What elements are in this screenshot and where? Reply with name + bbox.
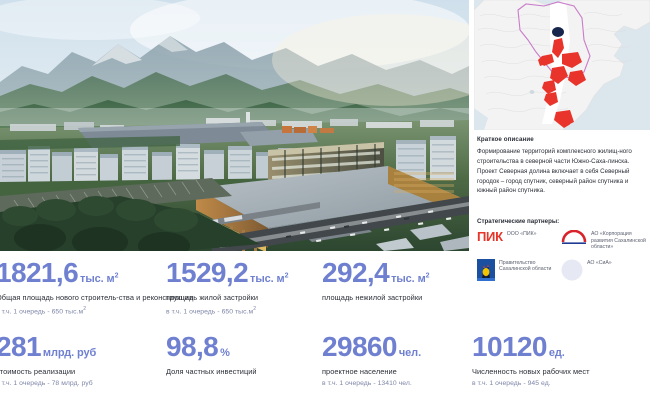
stat-value: 10120 [472,331,547,362]
stat-unit: тыс. м2 [80,273,118,285]
stat-value: 1821,6 [0,257,78,288]
stat-label: площадь жилой застройки [166,293,288,303]
map-illustration [474,0,650,130]
city-marker [552,27,564,37]
stat-new-jobs: 10120ед. Численность новых рабочих мест … [472,333,590,389]
description-block: Краткое описание Формирование территорий… [477,136,649,196]
stat-value: 281 [0,331,41,362]
region-map [474,0,650,130]
stat-subtext: в т.ч. 1 очередь - 650 тыс.м2 [0,305,193,317]
stat-unit: тыс. м2 [250,273,288,285]
stat-investment-cost: 281млрд. руб стоимость реализации в т.ч.… [0,333,96,389]
description-paragraph-1: Формирование территорий комплексного жил… [477,147,649,166]
stat-value: 292,4 [322,257,389,288]
render-illustration [0,0,469,251]
stat-unit: млрд. руб [43,347,96,359]
partner-name: ООО «ПИК» [507,230,537,238]
project-render-image [0,0,469,251]
stat-unit: чел. [399,347,421,359]
stat-label: проектное население [322,367,421,377]
partner-name: АО «Корпорация развития Сахалинской обла… [591,230,650,251]
pik-logo-icon: ПИК [477,230,503,243]
partner-korporaciya-razvitiya[interactable]: АО «Корпорация развития Сахалинской обла… [561,230,650,251]
stat-label: Общая площадь нового строитель-ства и ре… [0,293,193,303]
stat-subtext: в т.ч. 1 очередь - 13410 чел. [322,379,421,388]
partners-title: Стратегические партнеры: [477,218,559,225]
stat-total-area: 1821,6тыс. м2 Общая площадь нового строи… [0,259,193,317]
stat-label: площадь нежилой застройки [322,293,429,303]
korporaciya-razvitiya-logo-icon [561,230,587,249]
stat-value: 1529,2 [166,257,248,288]
stat-unit: тыс. м2 [391,273,429,285]
description-paragraph-2: Проект Северная долина включает в себя С… [477,167,649,196]
statistics-section: 1821,6тыс. м2 Общая площадь нового строи… [0,251,650,403]
stat-unit: % [220,347,230,359]
description-title: Краткое описание [477,136,649,143]
stat-value: 98,8 [166,331,218,362]
stat-design-population: 29860чел. проектное население в т.ч. 1 о… [322,333,421,389]
stat-label: стоимость реализации [0,367,96,377]
stat-value: 29860 [322,331,397,362]
stat-private-investment-share: 98,8% Доля частных инвестиций [166,333,257,379]
stat-label: Численность новых рабочих мест [472,367,590,377]
stat-residential-area: 1529,2тыс. м2 площадь жилой застройки в … [166,259,288,317]
stat-subtext: в т.ч. 1 очередь - 945 ед. [472,379,590,388]
presentation-slide: Краткое описание Формирование территорий… [0,0,650,403]
stat-label: Доля частных инвестиций [166,367,257,377]
stat-subtext: в т.ч. 1 очередь - 78 млрд. руб [0,379,96,388]
stat-non-residential-area: 292,4тыс. м2 площадь нежилой застройки [322,259,429,305]
partner-pik[interactable]: ПИК ООО «ПИК» [477,230,561,251]
stat-subtext: в т.ч. 1 очередь - 650 тыс.м2 [166,305,288,317]
stat-unit: ед. [549,347,565,359]
